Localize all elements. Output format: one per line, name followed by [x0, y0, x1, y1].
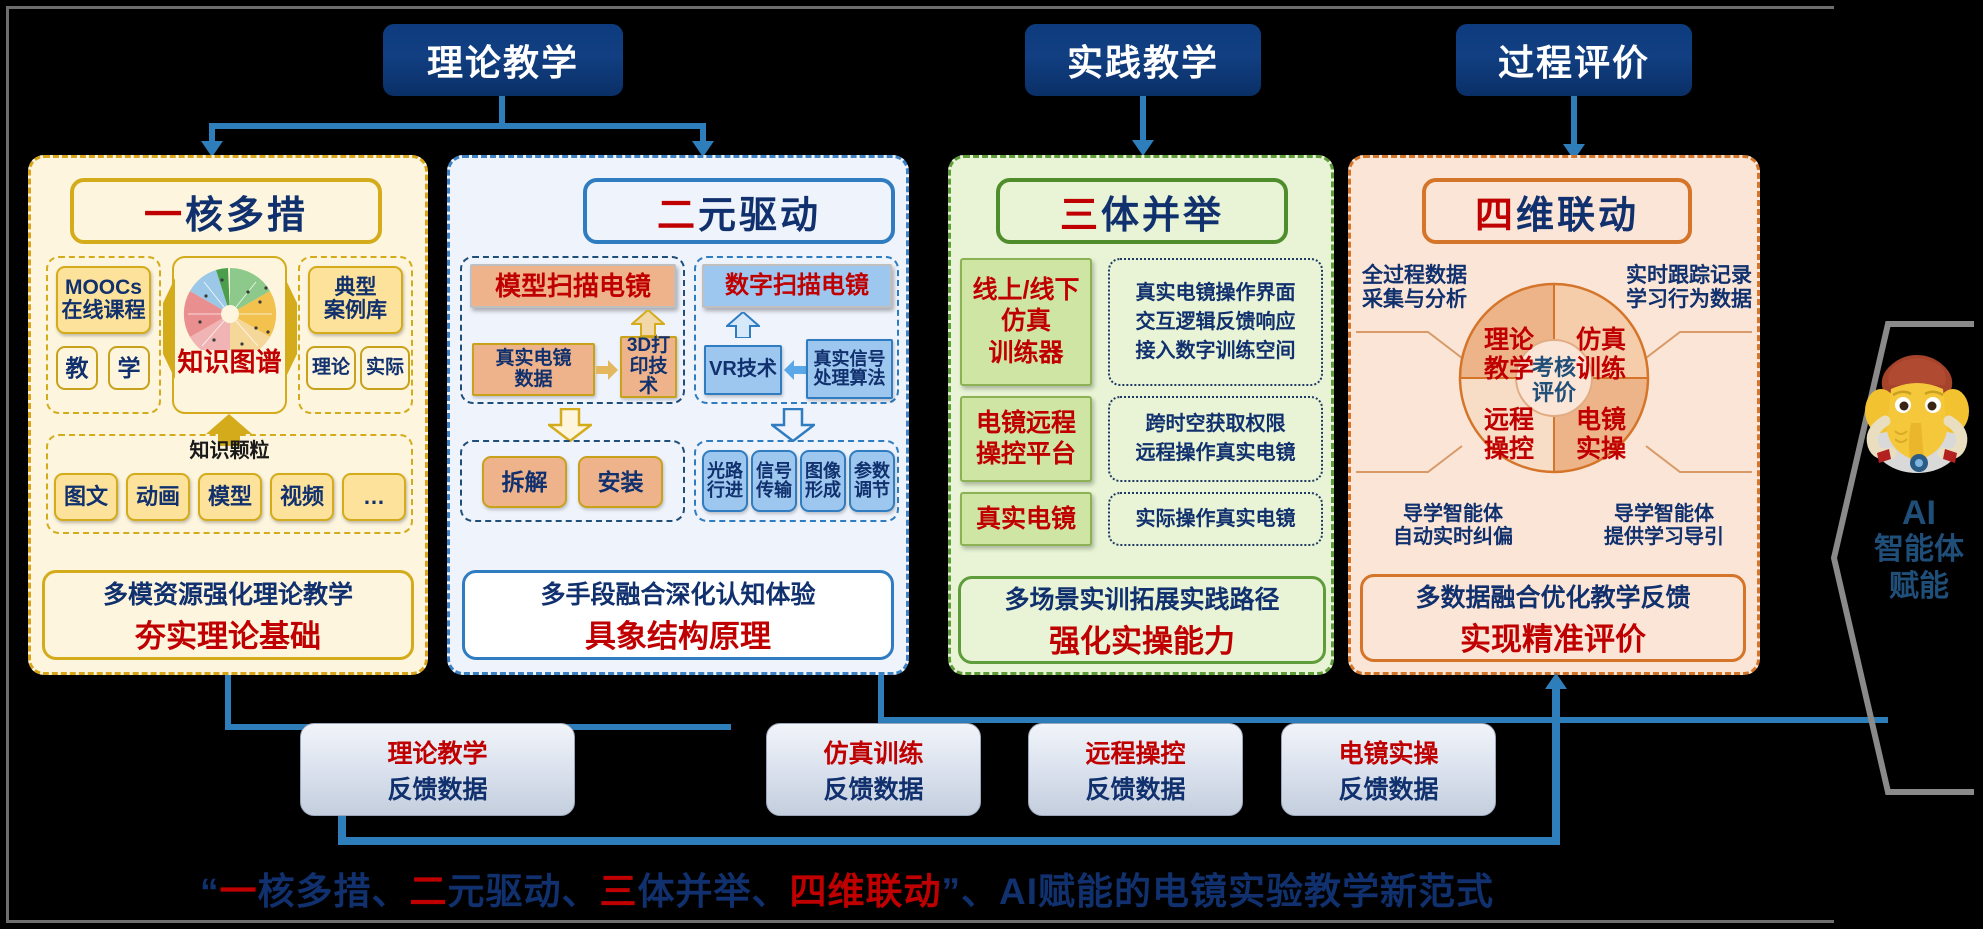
- panel1-granule-1[interactable]: 动画: [126, 473, 190, 521]
- tagline-quote-open: “: [200, 871, 220, 912]
- panel2-right-head[interactable]: 数字扫描电镜: [702, 264, 892, 308]
- panel1-xue-chip[interactable]: 学: [108, 346, 150, 390]
- panel4-title-blue: 维联动: [1516, 184, 1639, 239]
- feedback-box-2[interactable]: 远程操控 反馈数据: [1028, 723, 1243, 816]
- panel3-list-0-item-0: 真实电镜操作界面: [1136, 279, 1296, 308]
- panel2-left-item-1[interactable]: 安装: [578, 456, 663, 508]
- fb-return-left-stub: [338, 816, 346, 841]
- connector-theory-right-drop: [700, 123, 706, 143]
- tagline-tail: 、AI赋能的电镜实验教学新范式: [961, 871, 1494, 912]
- panel1-summary-line1: 多模资源强化理论教学: [103, 575, 353, 611]
- fb-return-riser: [1552, 688, 1560, 841]
- panel1-title-red: 一: [144, 184, 185, 239]
- feedback-0-title: 理论教学: [387, 734, 487, 770]
- panel3-title-red: 三: [1060, 184, 1101, 239]
- panel2-summary-line1: 多手段融合深化认知体验: [540, 575, 815, 611]
- panel4-title: 四维联动: [1422, 178, 1692, 244]
- panel1-granule-0[interactable]: 图文: [54, 473, 118, 521]
- panel4-summary: 多数据融合优化教学反馈 实现精准评价: [1360, 574, 1746, 662]
- tagline: “一核多措、二元驱动、三体并举、四维联动”、AI赋能的电镜实验教学新范式: [200, 861, 1494, 915]
- panel3-chip-2[interactable]: 真实电镜: [960, 492, 1092, 546]
- feedback-0-sub: 反馈数据: [387, 770, 487, 806]
- connector-practice-trunk: [1140, 96, 1146, 142]
- panel2-summary-line2: 具象结构原理: [585, 611, 771, 656]
- panel2-right-item-1[interactable]: 信号 传输: [751, 450, 797, 512]
- panel2-right-b[interactable]: 真实信号 处理算法: [806, 339, 893, 399]
- panel1-title-blue: 核多措: [185, 184, 308, 239]
- panel2-title: 二元驱动: [583, 178, 895, 244]
- feedback-1-title: 仿真训练: [823, 734, 923, 770]
- tagline-t3-blue: 体并举、: [638, 871, 790, 912]
- ai-label-line3: 赋能: [1860, 570, 1978, 603]
- tagline-t1-blue: 核多措、: [258, 871, 410, 912]
- panel1-mooc-chip[interactable]: MOOCs 在线课程: [56, 266, 151, 334]
- connector-theory-bar: [209, 123, 706, 129]
- panel1-summary: 多模资源强化理论教学 夯实理论基础: [42, 570, 414, 660]
- feedback-1-sub: 反馈数据: [823, 770, 923, 806]
- ai-label-line2: 智能体: [1860, 533, 1978, 566]
- panel1-arrow-right-block-icon: [284, 276, 300, 381]
- feedback-3-title: 电镜实操: [1338, 734, 1438, 770]
- panel3-chip-1[interactable]: 电镜远程 操控平台: [960, 396, 1092, 482]
- panel3-title: 三体并举: [996, 178, 1288, 244]
- feedback-box-0[interactable]: 理论教学 反馈数据: [300, 723, 575, 816]
- arrow-to-panel3: [1132, 140, 1154, 156]
- panel1-lilun-chip[interactable]: 理论: [306, 346, 356, 390]
- panel4-title-red: 四: [1475, 184, 1516, 239]
- panel1-knowledge-graph-label: 知识图谱: [172, 348, 287, 378]
- panel2-left-a[interactable]: 真实电镜 数据: [472, 343, 595, 396]
- panel2-right-item-0[interactable]: 光路 行进: [702, 450, 748, 512]
- panel3-list-0-item-2: 接入数字训练空间: [1136, 337, 1296, 366]
- feedback-2-title: 远程操控: [1085, 734, 1185, 770]
- panel3-title-blue: 体并举: [1101, 184, 1224, 239]
- panel3-list-0: 真实电镜操作界面 交互逻辑反馈响应 接入数字训练空间: [1108, 258, 1323, 386]
- panel1-case-chip[interactable]: 典型 案例库: [308, 266, 403, 334]
- panel3-chip-0[interactable]: 线上/线下 仿真 训练器: [960, 258, 1092, 386]
- fb-line-p3-down: [878, 675, 884, 723]
- connector-theory-left-drop: [209, 123, 215, 143]
- panel2-right-item-3[interactable]: 参数 调节: [849, 450, 895, 512]
- tagline-t3-red: 三: [600, 871, 638, 912]
- panel1-shiji-chip[interactable]: 实际: [360, 346, 410, 390]
- panel4-summary-line1: 多数据融合优化教学反馈: [1415, 578, 1690, 614]
- feedback-2-sub: 反馈数据: [1085, 770, 1185, 806]
- connector-theory-trunk: [499, 96, 505, 126]
- panel2-title-red: 二: [657, 184, 698, 239]
- panel2-left-item-0[interactable]: 拆解: [482, 456, 567, 508]
- panel1-granule-title: 知识颗粒: [46, 440, 413, 463]
- header-pill-evaluation[interactable]: 过程评价: [1456, 24, 1692, 96]
- panel2-arrow-down-right-icon: [771, 408, 815, 442]
- panel3-summary-line1: 多场景实训拓展实践路径: [1004, 580, 1279, 616]
- panel4-quadrant-2: 远程 操控: [1466, 406, 1552, 464]
- tagline-quote-close: ”: [942, 871, 962, 912]
- panel1-granule-2[interactable]: 模型: [198, 473, 262, 521]
- panel3-list-1-item-1: 远程操作真实电镜: [1136, 439, 1296, 468]
- panel3-summary: 多场景实训拓展实践路径 强化实操能力: [958, 576, 1326, 664]
- panel3-list-2: 实际操作真实电镜: [1108, 492, 1323, 546]
- panel1-granule-3[interactable]: 视频: [270, 473, 334, 521]
- panel1-arrow-left-block-icon: [160, 276, 176, 381]
- header-pill-practice[interactable]: 实践教学: [1025, 24, 1261, 96]
- panel3-list-1: 跨时空获取权限 远程操作真实电镜: [1108, 396, 1323, 482]
- arrow-return-to-panel4: [1545, 673, 1567, 689]
- panel1-jiao-chip[interactable]: 教: [56, 346, 98, 390]
- panel3-list-0-item-1: 交互逻辑反馈响应: [1136, 308, 1296, 337]
- panel4-wheel-center-label: 考核 评价: [1514, 355, 1594, 406]
- panel3-summary-line2: 强化实操能力: [1049, 616, 1235, 661]
- panel3-list-1-item-0: 跨时空获取权限: [1146, 410, 1286, 439]
- panel2-left-head[interactable]: 模型扫描电镜: [470, 264, 676, 308]
- knowledge-graph-sunburst-icon: [180, 258, 280, 350]
- fb-line-p1-down: [225, 675, 231, 730]
- panel3-list-2-item-0: 实际操作真实电镜: [1136, 505, 1296, 534]
- connector-evaluation-trunk: [1571, 96, 1577, 146]
- panel2-arrow-up-blue-icon: [726, 312, 760, 338]
- panel2-left-b[interactable]: 3D打 印技术: [620, 336, 677, 398]
- feedback-box-3[interactable]: 电镜实操 反馈数据: [1281, 723, 1496, 816]
- panel2-title-blue: 元驱动: [698, 184, 821, 239]
- panel2-summary: 多手段融合深化认知体验 具象结构原理: [462, 570, 894, 660]
- panel2-arrow-down-left-icon: [548, 408, 592, 442]
- tagline-t1-red: 一: [220, 871, 258, 912]
- panel1-summary-line2: 夯实理论基础: [135, 611, 321, 656]
- tagline-t4-red: 四维联动: [790, 871, 942, 912]
- header-pill-theory[interactable]: 理论教学: [383, 24, 623, 96]
- panel4-quadrant-3: 电镜 实操: [1558, 406, 1644, 464]
- feedback-3-sub: 反馈数据: [1338, 770, 1438, 806]
- tagline-t2-red: 二: [410, 871, 448, 912]
- tagline-t2-blue: 元驱动、: [448, 871, 600, 912]
- ai-label-line1: AI: [1860, 495, 1978, 532]
- panel1-granule-4[interactable]: …: [342, 473, 406, 521]
- panel2-arrow-right-small-icon: [596, 360, 618, 380]
- panel2-arrow-up-small-icon: [631, 310, 665, 336]
- panel1-title: 一核多措: [70, 178, 382, 244]
- feedback-box-1[interactable]: 仿真训练 反馈数据: [766, 723, 981, 816]
- ai-elephant-mascot-icon: [1855, 345, 1979, 485]
- panel2-right-a[interactable]: VR技术: [704, 345, 782, 395]
- panel2-right-item-2[interactable]: 图像 形成: [800, 450, 846, 512]
- fb-return-horizontal: [338, 837, 1560, 845]
- diagram-canvas: 理论教学 实践教学 过程评价 一核多措 MOOCs 在线课程 教 学: [0, 0, 1983, 929]
- panel4-summary-line2: 实现精准评价: [1460, 614, 1646, 659]
- panel2-arrow-left-small-icon: [784, 360, 806, 380]
